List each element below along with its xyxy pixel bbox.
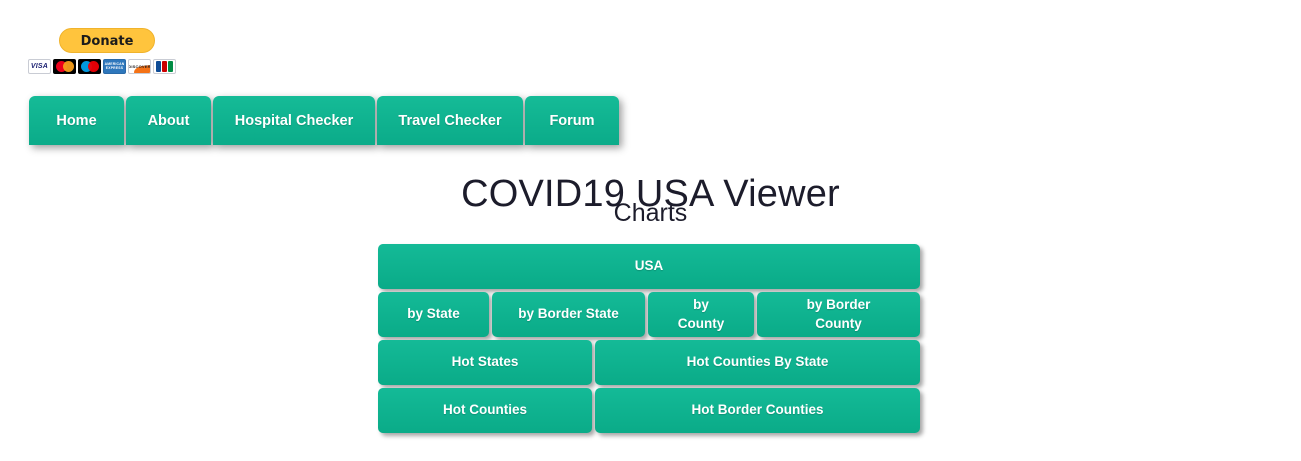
discover-card-label: DISCOVER [128, 64, 151, 69]
nav-item-travel-checker[interactable]: Travel Checker [377, 96, 523, 145]
page-subtitle: Charts [0, 199, 1301, 228]
mastercard-card-icon [53, 59, 76, 74]
nav-item-home[interactable]: Home [29, 96, 124, 145]
chart-button-hot-counties[interactable]: Hot Counties [378, 388, 592, 433]
donate-block: Donate VISA AMERICAN EXPRESS DISCOVER [27, 28, 187, 74]
nav-item-about[interactable]: About [126, 96, 211, 145]
chart-button-row: Hot StatesHot Counties By State [378, 340, 920, 385]
chart-button-row: Hot CountiesHot Border Counties [378, 388, 920, 433]
chart-button-by-border-state[interactable]: by Border State [492, 292, 645, 337]
chart-button-by-state[interactable]: by State [378, 292, 489, 337]
american-express-card-icon: AMERICAN EXPRESS [103, 59, 126, 74]
donate-button[interactable]: Donate [59, 28, 155, 53]
chart-button-usa[interactable]: USA [378, 244, 920, 289]
nav-item-hospital-checker[interactable]: Hospital Checker [213, 96, 375, 145]
main-navigation: Home About Hospital Checker Travel Check… [29, 96, 619, 145]
chart-button-by-county[interactable]: byCounty [648, 292, 754, 337]
chart-button-hot-counties-by-state[interactable]: Hot Counties By State [595, 340, 920, 385]
chart-button-by-border-county[interactable]: by BorderCounty [757, 292, 920, 337]
jcb-card-icon [153, 59, 176, 74]
chart-button-grid: USAby Stateby Border StatebyCountyby Bor… [378, 244, 920, 433]
discover-card-icon: DISCOVER [128, 59, 151, 74]
nav-item-forum[interactable]: Forum [525, 96, 619, 145]
chart-button-hot-states[interactable]: Hot States [378, 340, 592, 385]
accepted-cards-row: VISA AMERICAN EXPRESS DISCOVER [27, 59, 187, 74]
chart-button-row: USA [378, 244, 920, 289]
chart-button-row: by Stateby Border StatebyCountyby Border… [378, 292, 920, 337]
visa-card-icon: VISA [28, 59, 51, 74]
maestro-card-icon [78, 59, 101, 74]
chart-button-hot-border-counties[interactable]: Hot Border Counties [595, 388, 920, 433]
